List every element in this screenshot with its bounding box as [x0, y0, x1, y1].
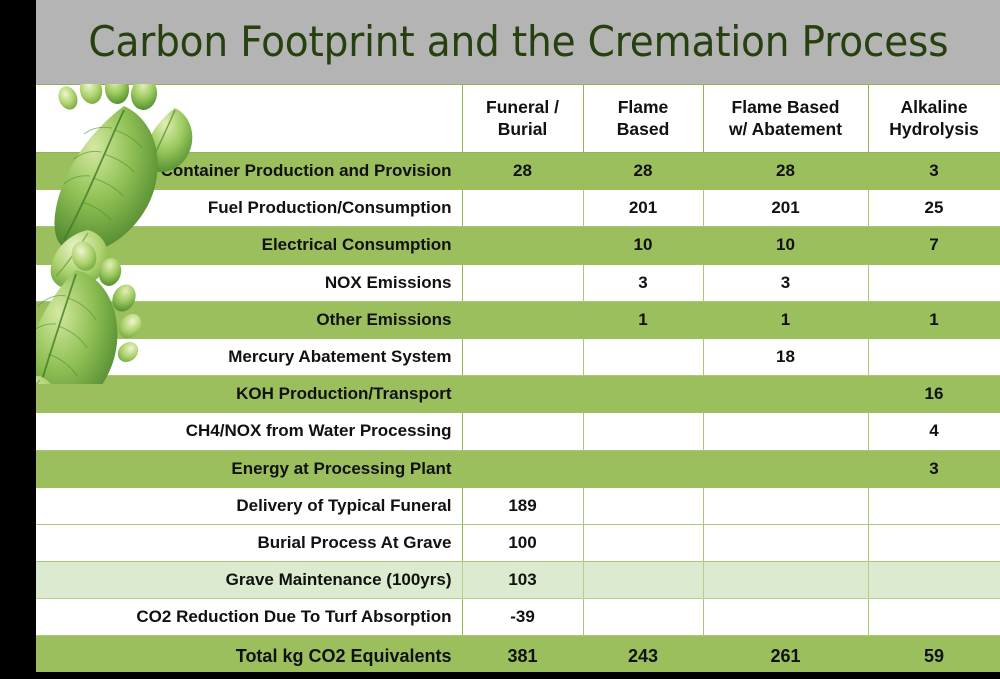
cell-flame_based: 1 — [583, 301, 703, 338]
cell-alkaline_hydrolysis: 16 — [868, 376, 1000, 413]
page-title: Carbon Footprint and the Cremation Proce… — [88, 21, 948, 63]
carbon-footprint-table: Funeral / Burial Flame Based Flame Based… — [36, 84, 1000, 678]
column-header-flame-based: Flame Based — [583, 85, 703, 153]
cell-alkaline_hydrolysis — [868, 562, 1000, 599]
cell-flame_based_abatement: 1 — [703, 301, 868, 338]
cell-flame_based_abatement: 10 — [703, 227, 868, 264]
table-row: Fuel Production/Consumption20120125 — [36, 190, 1000, 227]
cell-flame_based_abatement — [703, 450, 868, 487]
cell-flame_based_abatement: 18 — [703, 338, 868, 375]
cell-flame_based — [583, 599, 703, 636]
cell-alkaline_hydrolysis: 1 — [868, 301, 1000, 338]
column-header-line1: Flame — [618, 97, 669, 117]
table-container: Funeral / Burial Flame Based Flame Based… — [36, 84, 1000, 672]
table-row: Burial Process At Grave100 — [36, 524, 1000, 561]
cell-alkaline_hydrolysis: 25 — [868, 190, 1000, 227]
cell-alkaline_hydrolysis — [868, 599, 1000, 636]
cell-alkaline_hydrolysis — [868, 264, 1000, 301]
table-row: Delivery of Typical Funeral189 — [36, 487, 1000, 524]
column-header-flame-based-with-abatement: Flame Based w/ Abatement — [703, 85, 868, 153]
cell-flame_based — [583, 338, 703, 375]
column-header-alkaline-hydrolysis: Alkaline Hydrolysis — [868, 85, 1000, 153]
table-row: CO2 Reduction Due To Turf Absorption-39 — [36, 599, 1000, 636]
table-row: Mercury Abatement System18 — [36, 338, 1000, 375]
row-label: Burial Process At Grave — [36, 524, 462, 561]
cell-funeral_burial — [462, 413, 583, 450]
column-header-line1: Alkaline — [900, 97, 967, 117]
cell-funeral_burial: 189 — [462, 487, 583, 524]
header-corner-cell — [36, 85, 462, 153]
cell-funeral_burial — [462, 450, 583, 487]
cell-flame_based_abatement: 201 — [703, 190, 868, 227]
cell-flame_based_abatement — [703, 524, 868, 561]
row-label: Electrical Consumption — [36, 227, 462, 264]
row-label: Delivery of Typical Funeral — [36, 487, 462, 524]
column-header-funeral-burial: Funeral / Burial — [462, 85, 583, 153]
page-margin-left — [0, 0, 36, 679]
column-header-line2: Burial — [498, 119, 548, 139]
cell-flame_based: 10 — [583, 227, 703, 264]
title-banner: Carbon Footprint and the Cremation Proce… — [36, 0, 1000, 84]
cell-flame_based — [583, 524, 703, 561]
page-margin-bottom — [0, 672, 1000, 679]
table-row: Other Emissions111 — [36, 301, 1000, 338]
table-body: Container Production and Provision282828… — [36, 153, 1000, 678]
cell-flame_based — [583, 487, 703, 524]
cell-flame_based — [583, 450, 703, 487]
cell-alkaline_hydrolysis — [868, 487, 1000, 524]
cell-alkaline_hydrolysis — [868, 524, 1000, 561]
row-label: Fuel Production/Consumption — [36, 190, 462, 227]
column-header-line2: Based — [617, 119, 670, 139]
cell-flame_based: 28 — [583, 153, 703, 190]
cell-alkaline_hydrolysis: 7 — [868, 227, 1000, 264]
cell-alkaline_hydrolysis — [868, 338, 1000, 375]
cell-flame_based_abatement — [703, 487, 868, 524]
table-row: Container Production and Provision282828… — [36, 153, 1000, 190]
cell-flame_based — [583, 562, 703, 599]
row-label: NOX Emissions — [36, 264, 462, 301]
cell-alkaline_hydrolysis: 3 — [868, 450, 1000, 487]
slide-canvas: Carbon Footprint and the Cremation Proce… — [0, 0, 1000, 679]
cell-alkaline_hydrolysis: 4 — [868, 413, 1000, 450]
header-row: Funeral / Burial Flame Based Flame Based… — [36, 85, 1000, 153]
cell-funeral_burial: 103 — [462, 562, 583, 599]
cell-flame_based — [583, 376, 703, 413]
column-header-line1: Funeral / — [486, 97, 559, 117]
cell-funeral_burial — [462, 338, 583, 375]
cell-funeral_burial — [462, 227, 583, 264]
row-label: CH4/NOX from Water Processing — [36, 413, 462, 450]
cell-flame_based_abatement — [703, 599, 868, 636]
row-label: KOH Production/Transport — [36, 376, 462, 413]
table-row: Grave Maintenance (100yrs)103 — [36, 562, 1000, 599]
cell-flame_based_abatement — [703, 413, 868, 450]
cell-alkaline_hydrolysis: 3 — [868, 153, 1000, 190]
column-header-line2: Hydrolysis — [889, 119, 978, 139]
cell-flame_based: 3 — [583, 264, 703, 301]
table-row: CH4/NOX from Water Processing4 — [36, 413, 1000, 450]
row-label: Mercury Abatement System — [36, 338, 462, 375]
table-header: Funeral / Burial Flame Based Flame Based… — [36, 85, 1000, 153]
cell-funeral_burial — [462, 301, 583, 338]
cell-funeral_burial: 100 — [462, 524, 583, 561]
cell-flame_based — [583, 413, 703, 450]
cell-flame_based_abatement — [703, 562, 868, 599]
table-row: Electrical Consumption10107 — [36, 227, 1000, 264]
cell-funeral_burial — [462, 190, 583, 227]
cell-flame_based_abatement: 28 — [703, 153, 868, 190]
row-label: Container Production and Provision — [36, 153, 462, 190]
cell-funeral_burial: -39 — [462, 599, 583, 636]
cell-flame_based_abatement: 3 — [703, 264, 868, 301]
column-header-line1: Flame Based — [732, 97, 840, 117]
cell-flame_based: 201 — [583, 190, 703, 227]
cell-funeral_burial: 28 — [462, 153, 583, 190]
cell-funeral_burial — [462, 264, 583, 301]
column-header-line2: w/ Abatement — [729, 119, 842, 139]
row-label: CO2 Reduction Due To Turf Absorption — [36, 599, 462, 636]
row-label: Energy at Processing Plant — [36, 450, 462, 487]
cell-funeral_burial — [462, 376, 583, 413]
cell-flame_based_abatement — [703, 376, 868, 413]
row-label: Grave Maintenance (100yrs) — [36, 562, 462, 599]
table-row: KOH Production/Transport16 — [36, 376, 1000, 413]
row-label: Other Emissions — [36, 301, 462, 338]
table-row: Energy at Processing Plant3 — [36, 450, 1000, 487]
table-row: NOX Emissions33 — [36, 264, 1000, 301]
